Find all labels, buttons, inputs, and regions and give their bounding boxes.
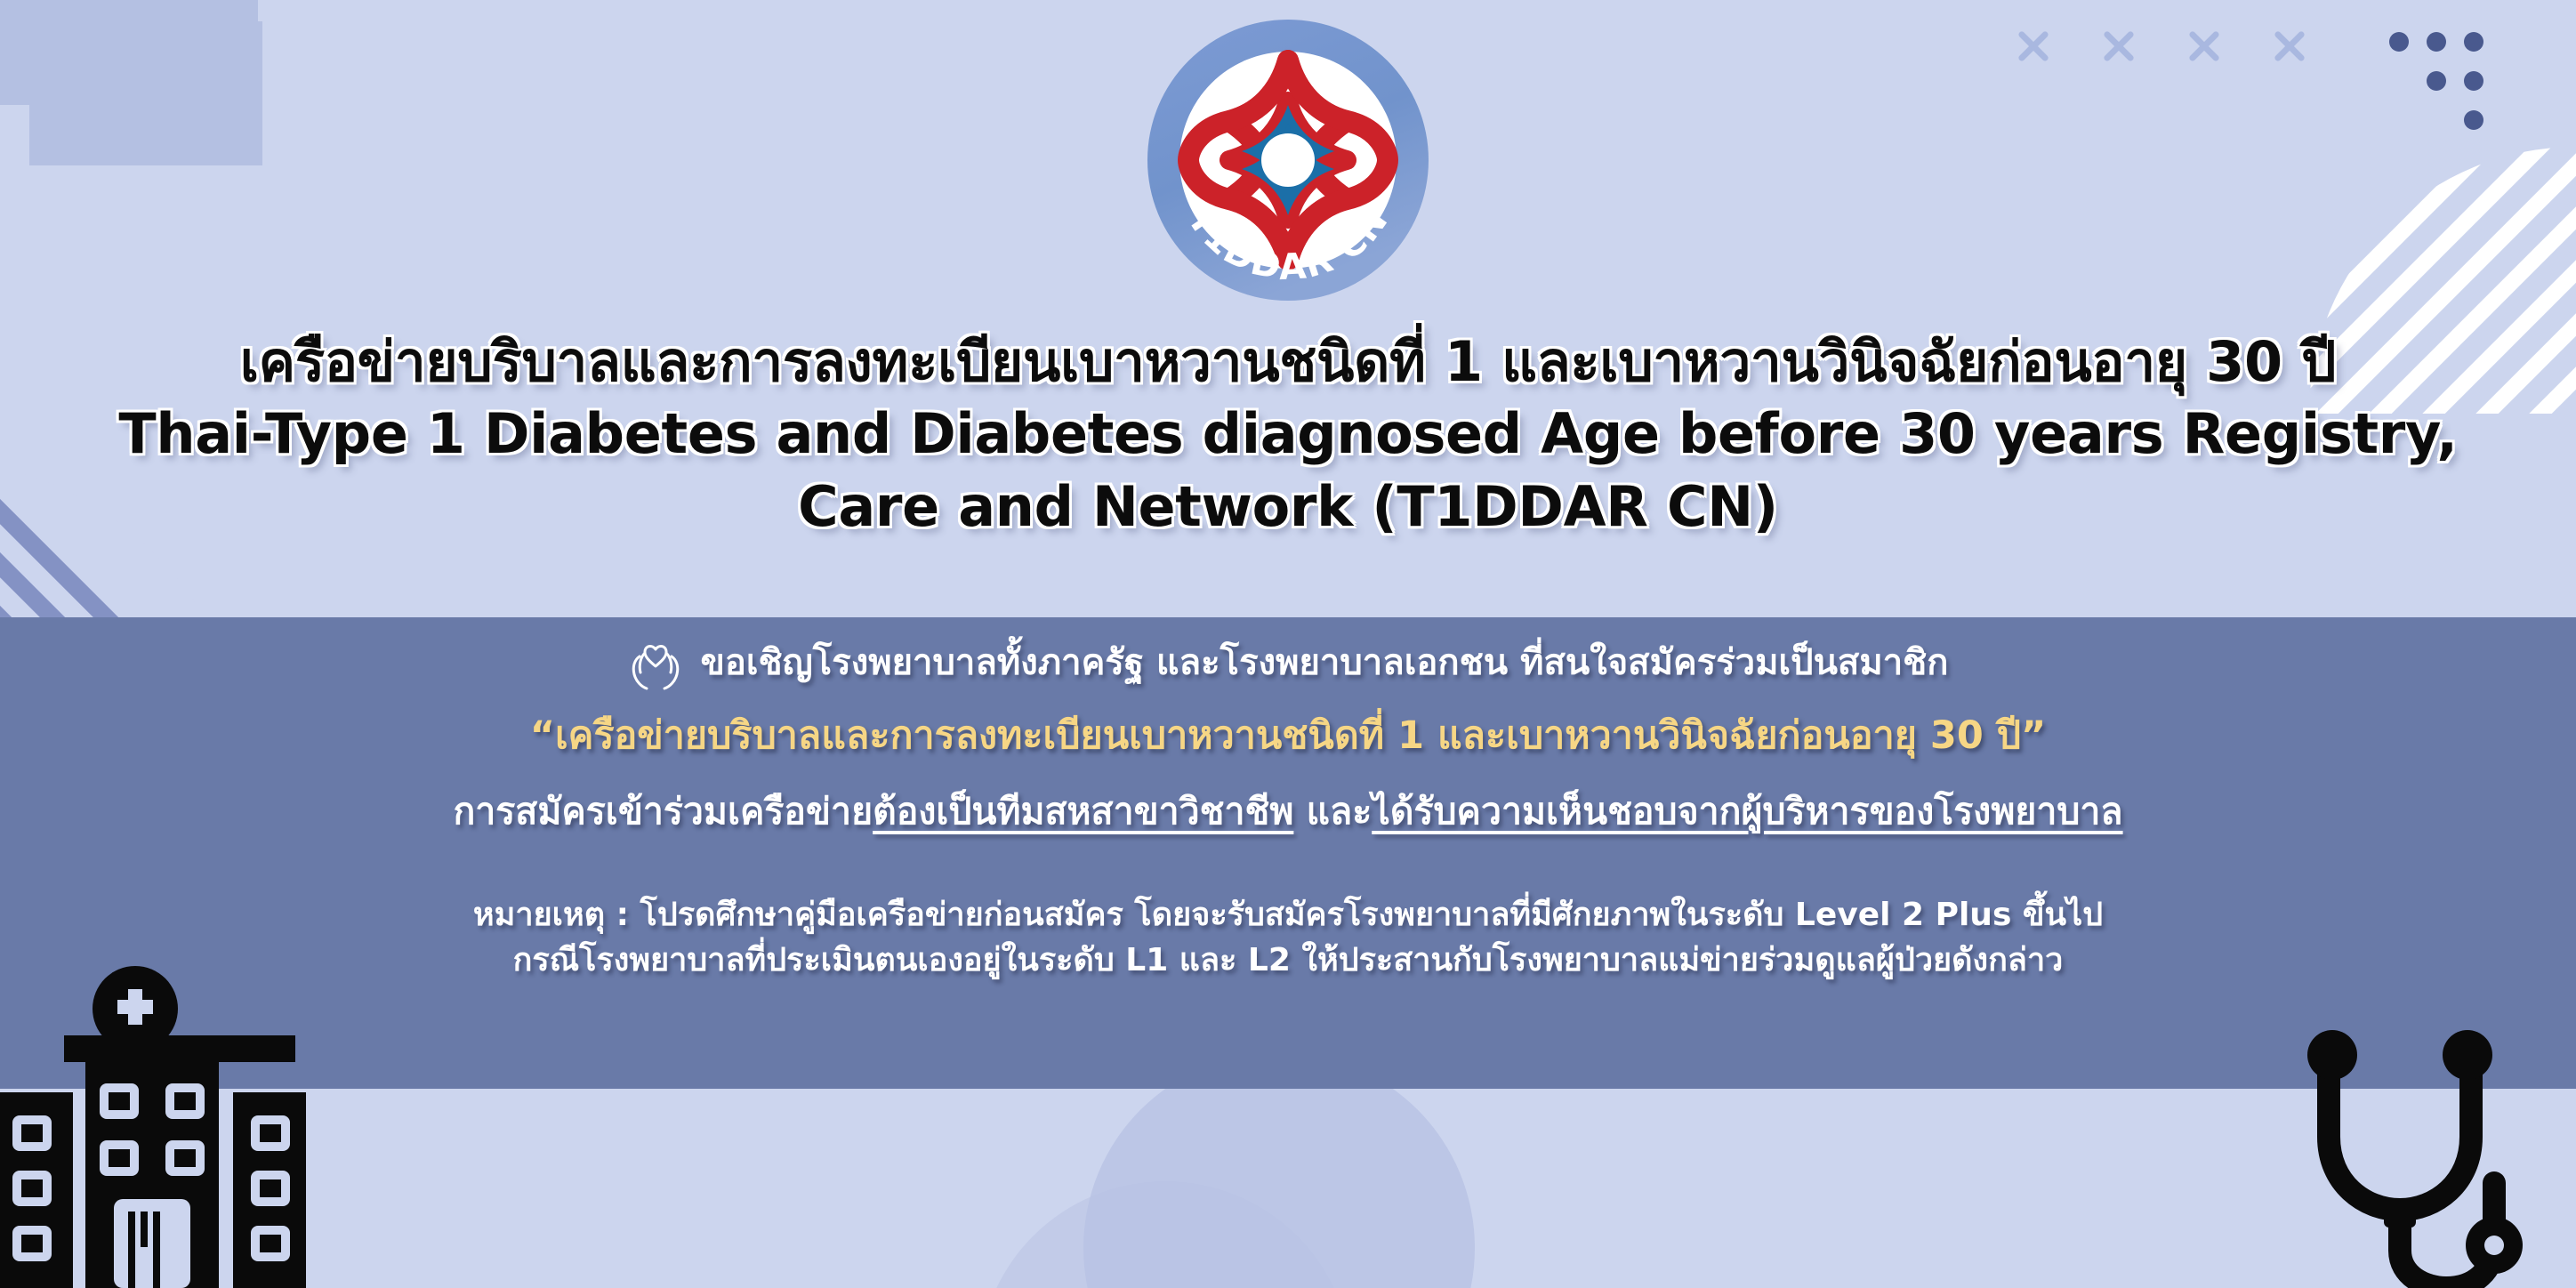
dot-icon: [2464, 32, 2483, 52]
dot-triangle-group: [2389, 25, 2505, 141]
dot-icon: [2427, 71, 2446, 91]
x-mark-icon: [2270, 27, 2309, 66]
corner-block-front: [29, 21, 262, 165]
x-marks-group: [2014, 27, 2309, 66]
poster-canvas: T1DDAR CN เครือข่ายบริบาลและการลงทะเบียน…: [0, 0, 2576, 1288]
hands-holding-heart-icon: [627, 633, 684, 690]
requirement-underline-1: ต้องเป็นทีมสหสาขาวิชาชีพ: [873, 790, 1293, 833]
poster-title-block: เครือข่ายบริบาลและการลงทะเบียนเบาหวานชนิ…: [0, 331, 2576, 537]
dot-icon: [2389, 32, 2409, 52]
note-line-1: หมายเหตุ : โปรดศึกษาคู่มือเครือข่ายก่อนส…: [0, 892, 2576, 938]
requirement-prefix: การสมัครเข้าร่วมเครือข่าย: [453, 790, 873, 833]
dot-icon: [2464, 110, 2483, 130]
corner-block-back: [0, 0, 258, 105]
x-mark-icon: [2014, 27, 2053, 66]
title-line-thai: เครือข่ายบริบาลและการลงทะเบียนเบาหวานชนิ…: [0, 331, 2576, 392]
bottom-circle-back: [978, 1181, 1352, 1288]
title-line-english-2: Care and Network (T1DDAR CN): [0, 476, 2576, 537]
invitation-text: ขอเชิญโรงพยาบาลทั้งภาครัฐ และโรงพยาบาลเอ…: [700, 633, 1948, 690]
dot-icon: [2427, 32, 2446, 52]
invitation-band: ขอเชิญโรงพยาบาลทั้งภาครัฐ และโรงพยาบาลเอ…: [0, 617, 2576, 1089]
x-mark-icon: [2099, 27, 2138, 66]
note-block: หมายเหตุ : โปรดศึกษาคู่มือเครือข่ายก่อนส…: [0, 892, 2576, 983]
t1ddar-cn-logo: T1DDAR CN: [1123, 0, 1453, 326]
invitation-row: ขอเชิญโรงพยาบาลทั้งภาครัฐ และโรงพยาบาลเอ…: [0, 633, 2576, 690]
requirement-line: การสมัครเข้าร่วมเครือข่ายต้องเป็นทีมสหสา…: [0, 783, 2576, 841]
title-line-english-1: Thai-Type 1 Diabetes and Diabetes diagno…: [0, 403, 2576, 464]
requirement-underline-2: ได้รับความเห็นชอบจากผู้บริหารของโรงพยาบา…: [1372, 790, 2122, 833]
program-name-quote: “เครือข่ายบริบาลและการลงทะเบียนเบาหวานชน…: [0, 704, 2576, 765]
requirement-middle: และ: [1293, 790, 1372, 833]
dot-icon: [2464, 71, 2483, 91]
note-line-2: กรณีโรงพยาบาลที่ประเมินตนเองอยู่ในระดับ …: [0, 938, 2576, 983]
x-mark-icon: [2185, 27, 2224, 66]
